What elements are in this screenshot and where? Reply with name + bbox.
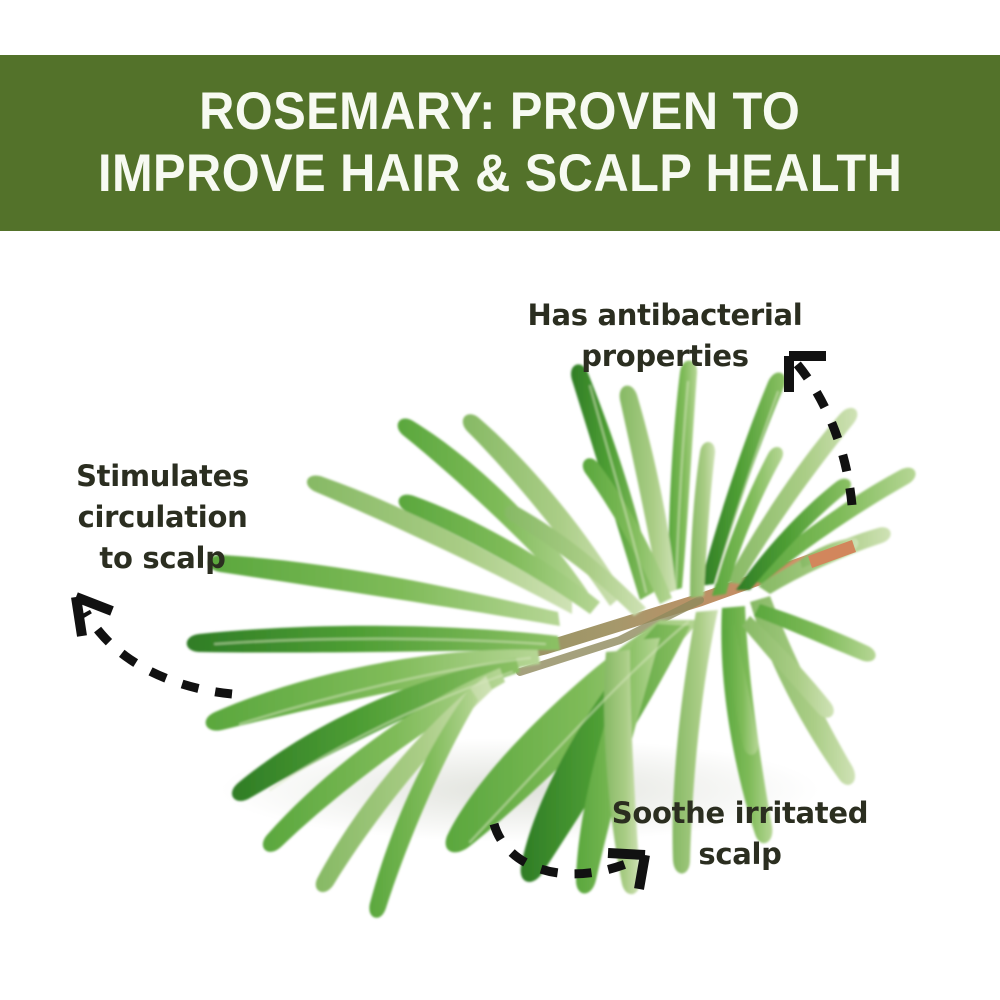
header-title-line-2: IMPROVE HAIR & SCALP HEALTH bbox=[98, 143, 902, 205]
header-title-line-1: ROSEMARY: PROVEN TO bbox=[199, 81, 800, 143]
callout-antibacterial-line-2: properties bbox=[490, 336, 840, 377]
callout-circulation-line-3: to scalp bbox=[30, 538, 295, 579]
callout-circulation-line-1: Stimulates bbox=[30, 456, 295, 497]
callout-circulation: Stimulates circulation to scalp bbox=[30, 456, 295, 579]
callout-soothe-line-2: scalp bbox=[580, 834, 900, 875]
callout-antibacterial: Has antibacterial properties bbox=[490, 295, 840, 377]
callout-circulation-line-2: circulation bbox=[30, 497, 295, 538]
callout-soothe: Soothe irritated scalp bbox=[580, 793, 900, 875]
callout-antibacterial-line-1: Has antibacterial bbox=[490, 295, 840, 336]
callout-soothe-line-1: Soothe irritated bbox=[580, 793, 900, 834]
arrow-circulation bbox=[76, 597, 232, 694]
arrow-antibacterial bbox=[789, 356, 852, 505]
infographic-canvas: ROSEMARY: PROVEN TO IMPROVE HAIR & SCALP… bbox=[0, 0, 1000, 1000]
header-banner: ROSEMARY: PROVEN TO IMPROVE HAIR & SCALP… bbox=[0, 55, 1000, 231]
